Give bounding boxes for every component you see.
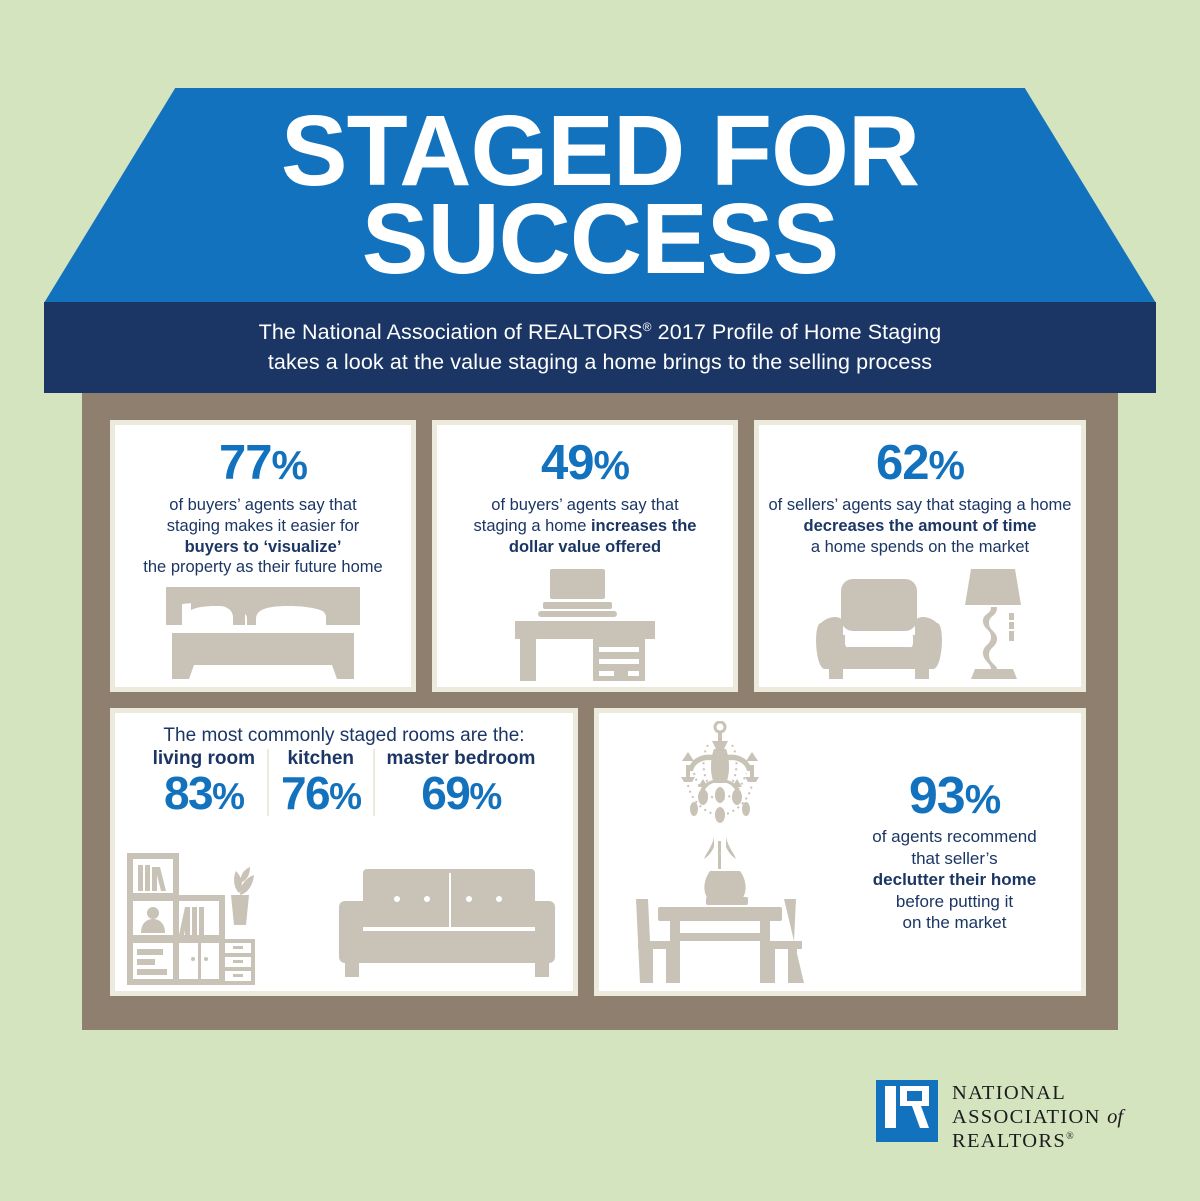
room-percent: 76% [281,770,361,816]
house-body: 77% of buyers’ agents say that staging m… [82,393,1118,1030]
declutter-text: 93% of agents recommend that seller’s de… [840,713,1081,991]
room-percent-value: 69 [421,767,469,819]
declutter-line-2: that seller’s [848,848,1061,869]
stat-line-3-bold: buyers to ‘visualize’ [185,538,342,556]
card-inner: The most commonly staged rooms are the: … [115,713,573,991]
room-living-room: living room 83% [141,749,267,816]
icon-area [115,585,411,681]
stat-percent: 77% [115,439,411,488]
logo-line-2: ASSOCIATION of [952,1105,1123,1129]
stat-line-1: of sellers’ agents say that staging a ho… [763,495,1077,516]
stat-row-top: 77% of buyers’ agents say that staging m… [110,420,1090,692]
title-line-2: SUCCESS [44,190,1156,288]
bookshelf-icon [127,853,255,985]
subtitle-line-1-b: 2017 Profile of Home Staging [652,320,942,344]
stat-description: of buyers’ agents say that staging makes… [115,495,411,578]
bed-icon [158,585,368,681]
desk-icon [510,569,660,681]
chandelier-icon [664,721,776,829]
percent-symbol: % [929,442,964,488]
subtitle-line-1: The National Association of REALTORS® 20… [259,318,942,348]
percent-symbol: % [965,776,1000,822]
stat-line-3-bold: dollar value offered [509,538,661,556]
stat-line-1: of buyers’ agents say that [123,495,403,516]
room-percent: 83% [153,770,255,816]
stat-card-visualize: 77% of buyers’ agents say that staging m… [110,420,416,692]
stat-line-2-bold: decreases the amount of time [804,517,1037,535]
stat-description: of sellers’ agents say that staging a ho… [759,495,1081,557]
declutter-line-4: before putting it [848,891,1061,912]
realtor-wordmark: REALTOR® [879,1130,937,1140]
declutter-layout: 93% of agents recommend that seller’s de… [599,713,1081,991]
stat-line-3: a home spends on the market [763,537,1077,558]
armchair-icon [815,573,943,681]
card-inner: 62% of sellers’ agents say that staging … [759,425,1081,687]
logo-line-3: REALTORS® [952,1129,1123,1153]
registered-mark: ® [643,320,652,334]
stat-percent: 93% [840,770,1069,822]
icon-area [759,569,1081,681]
dining-table-icon [630,837,810,987]
stat-description: of buyers’ agents say that staging a hom… [437,495,733,557]
room-master-bedroom: master bedroom 69% [373,749,548,816]
rooms-list: living room 83% kitchen 76% master bedro… [115,749,573,816]
percent-symbol: % [212,776,243,817]
declutter-line-5: on the market [848,912,1061,933]
stat-description: of agents recommend that seller’s declut… [840,826,1069,933]
room-percent-value: 83 [164,767,212,819]
declutter-line-3-bold: declutter their home [873,870,1036,889]
stat-line-1: of buyers’ agents say that [445,495,725,516]
logo-line-1: NATIONAL [952,1081,1123,1105]
rooms-heading: The most commonly staged rooms are the: [115,713,573,747]
stat-line-2-bold: increases the [591,517,696,535]
percent-symbol: % [329,776,360,817]
stat-card-dollar-value: 49% of buyers’ agents say that staging a… [432,420,738,692]
sofa-icon [339,869,555,981]
subtitle-text: The National Association of REALTORS® 20… [259,318,942,377]
stat-line-2: staging makes it easier for [123,516,403,537]
card-inner: 93% of agents recommend that seller’s de… [599,713,1081,991]
stat-row-bottom: The most commonly staged rooms are the: … [110,708,1090,996]
percent-symbol: % [594,442,629,488]
floor-lamp-icon [961,569,1025,681]
icon-area [115,847,573,987]
subtitle-line-1-a: The National Association of REALTORS [259,320,643,344]
letter-r-icon [885,1086,929,1128]
declutter-line-1: of agents recommend [848,826,1061,847]
nar-logo-text: NATIONAL ASSOCIATION of REALTORS® [952,1081,1123,1154]
stat-percent-value: 93 [909,767,965,825]
realtor-mark: REALTOR® [876,1080,938,1154]
stat-percent-value: 62 [876,436,929,490]
roof-banner: STAGED FOR SUCCESS [44,88,1156,303]
page-title: STAGED FOR SUCCESS [44,88,1156,288]
infographic-canvas: STAGED FOR SUCCESS The National Associat… [0,0,1200,1201]
subtitle-line-2: takes a look at the value staging a home… [259,348,942,378]
staged-rooms-card: The most commonly staged rooms are the: … [110,708,578,996]
stat-line-4: the property as their future home [123,557,403,578]
room-percent: 69% [387,770,536,816]
icon-area [599,713,840,991]
declutter-card: 93% of agents recommend that seller’s de… [594,708,1086,996]
icon-area [437,569,733,681]
stat-percent-value: 77 [219,436,272,490]
percent-symbol: % [272,442,307,488]
subtitle-band: The National Association of REALTORS® 20… [44,302,1156,393]
nar-logo: REALTOR® NATIONAL ASSOCIATION of REALTOR… [876,1080,1123,1154]
stat-percent: 62% [759,439,1081,488]
card-inner: 49% of buyers’ agents say that staging a… [437,425,733,687]
stat-card-time-on-market: 62% of sellers’ agents say that staging … [754,420,1086,692]
stat-percent: 49% [437,439,733,488]
percent-symbol: % [469,776,500,817]
room-kitchen: kitchen 76% [267,749,373,816]
room-percent-value: 76 [281,767,329,819]
stat-line-2: staging a home [474,517,591,535]
stat-percent-value: 49 [541,436,594,490]
card-inner: 77% of buyers’ agents say that staging m… [115,425,411,687]
realtor-block-icon: REALTOR® [876,1080,938,1142]
